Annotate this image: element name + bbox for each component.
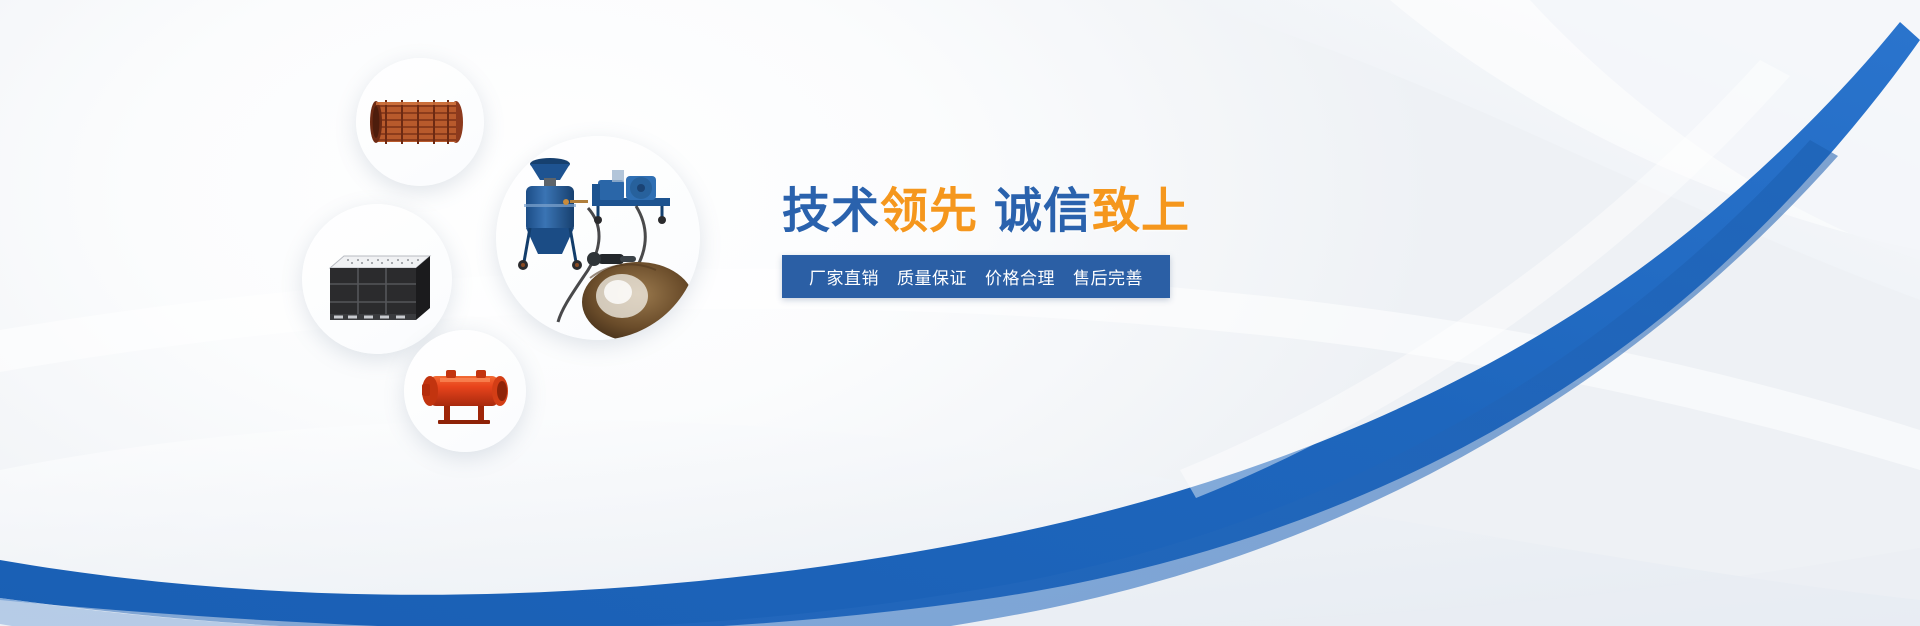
headline-segment-4: 致上	[1092, 183, 1190, 239]
banner-headline: 技术领先诚信致上	[782, 186, 1212, 237]
product-circle-sandblaster	[496, 136, 700, 340]
feature-badge-bar: 厂家直销 质量保证 价格合理 售后完善	[782, 255, 1170, 298]
headline-segment-3: 诚信	[994, 183, 1092, 239]
background-swoosh-decoration	[0, 0, 1920, 626]
badge-item-quality-assured: 质量保证	[888, 264, 976, 289]
red-exchanger-image	[404, 330, 526, 452]
sandblaster-image	[496, 136, 700, 340]
badge-item-factory-direct: 厂家直销	[800, 264, 888, 289]
product-circle-tube-bundle	[356, 58, 484, 186]
tube-bundle-image	[356, 58, 484, 186]
product-circle-red-exchanger	[404, 330, 526, 452]
badge-item-after-sales: 售后完善	[1064, 264, 1152, 289]
badge-item-fair-price: 价格合理	[976, 264, 1064, 289]
banner-copy-block: 技术领先诚信致上 厂家直销 质量保证 价格合理 售后完善	[782, 186, 1212, 298]
headline-segment-2: 领先	[880, 183, 978, 239]
headline-segment-1: 技术	[782, 183, 880, 239]
hero-banner: 技术领先诚信致上 厂家直销 质量保证 价格合理 售后完善	[0, 0, 1920, 626]
